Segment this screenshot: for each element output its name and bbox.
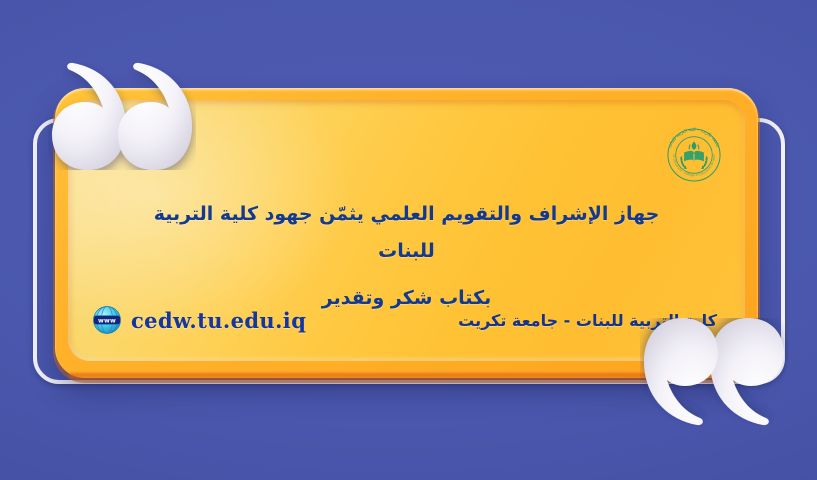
poster-stage: جامعة تكريت - كلية التربية للبنات Tikrit… [0, 0, 817, 480]
card-footer: www cedw.tu.edu.iq كلية التربية للبنات -… [92, 303, 719, 337]
quote-card-face: جامعة تكريت - كلية التربية للبنات Tikrit… [68, 100, 745, 361]
website-link[interactable]: www cedw.tu.edu.iq [92, 305, 306, 335]
svg-text:www: www [98, 317, 116, 324]
college-name-text: كلية التربية للبنات - جامعة تكريت [458, 311, 719, 330]
quote-line-1: جهاز الإشراف والتقويم العلمي يثمّن جهود … [138, 196, 675, 270]
quote-text-block: جهاز الإشراف والتقويم العلمي يثمّن جهود … [68, 196, 745, 317]
website-url-text[interactable]: cedw.tu.edu.iq [131, 308, 306, 333]
university-seal-icon: جامعة تكريت - كلية التربية للبنات Tikrit… [663, 124, 725, 186]
www-globe-icon: www [92, 305, 122, 335]
quote-card: جامعة تكريت - كلية التربية للبنات Tikrit… [55, 88, 758, 378]
